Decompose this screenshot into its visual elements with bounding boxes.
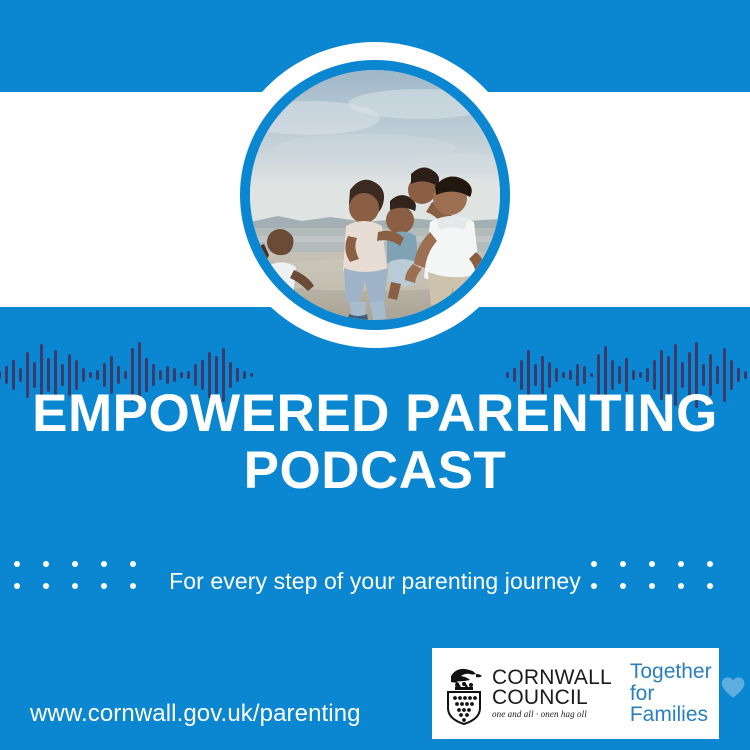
- dot: [620, 561, 626, 567]
- dot: [649, 583, 655, 589]
- council-name-line-1: CORNWALL: [492, 668, 612, 688]
- podcast-title: EMPOWERED PARENTING PODCAST: [0, 385, 750, 499]
- tff-line-1: Together: [630, 661, 718, 683]
- heart-icon: [721, 674, 745, 702]
- dot: [14, 561, 20, 567]
- hero-photo: [250, 70, 500, 320]
- council-wordmark: CORNWALL COUNCIL one and all · onen hag …: [492, 668, 612, 718]
- dot: [707, 583, 713, 589]
- dot: [678, 561, 684, 567]
- dot: [707, 561, 713, 567]
- dot-grid-right: [591, 561, 736, 605]
- dot: [72, 583, 78, 589]
- title-line-1: EMPOWERED PARENTING: [0, 385, 750, 442]
- title-line-2: PODCAST: [0, 442, 750, 499]
- dot: [72, 561, 78, 567]
- tagline-row: For every step of your parenting journey: [0, 556, 750, 606]
- council-name-line-2: COUNCIL: [492, 688, 612, 708]
- dot: [101, 583, 107, 589]
- logo-lockup: CORNWALL COUNCIL one and all · onen hag …: [432, 648, 719, 739]
- dot: [130, 561, 136, 567]
- together-for-families-logo: Together for Families: [630, 661, 746, 726]
- website-url[interactable]: www.cornwall.gov.uk/parenting: [30, 700, 361, 728]
- dot: [620, 583, 626, 589]
- dot: [649, 561, 655, 567]
- dot: [591, 561, 597, 567]
- dot: [678, 583, 684, 589]
- council-motto: one and all · onen hag oll: [492, 710, 612, 718]
- dot: [14, 583, 20, 589]
- dot: [130, 583, 136, 589]
- dot: [591, 583, 597, 589]
- dot: [43, 561, 49, 567]
- tff-wordmark: Together for Families: [630, 661, 718, 726]
- hero-circle: [250, 30, 500, 360]
- dot: [43, 583, 49, 589]
- dot-grid-left: [14, 561, 159, 605]
- cornwall-crest-icon: [442, 663, 486, 725]
- cornwall-council-logo: CORNWALL COUNCIL one and all · onen hag …: [432, 663, 612, 725]
- dot: [101, 561, 107, 567]
- tff-line-2: for Families: [630, 683, 718, 727]
- podcast-cover: EMPOWERED PARENTING PODCAST For every st…: [0, 0, 750, 750]
